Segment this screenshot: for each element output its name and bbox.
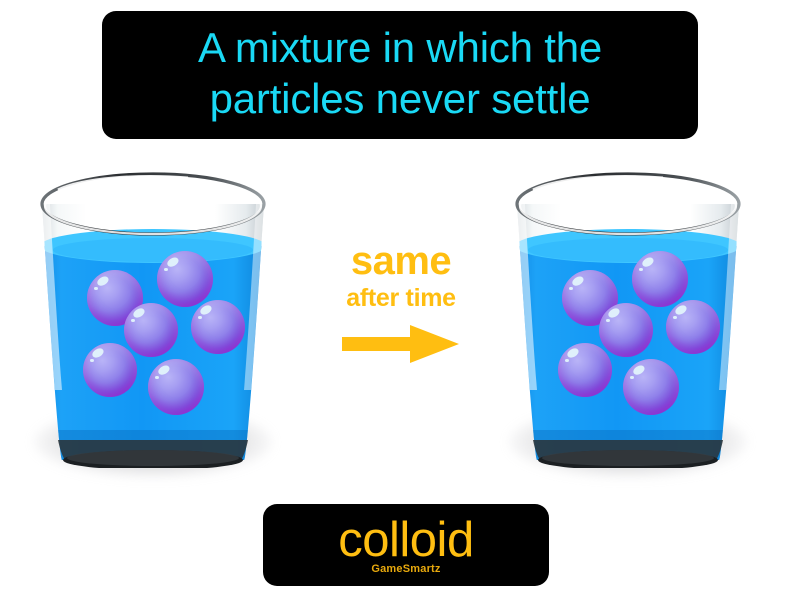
particle	[124, 303, 178, 357]
definition-line-1: A mixture in which the	[198, 22, 602, 73]
term-banner: colloid GameSmartz	[263, 504, 549, 586]
beaker-before	[28, 158, 278, 468]
particle	[191, 300, 245, 354]
particle-group	[503, 158, 753, 468]
particle	[599, 303, 653, 357]
particle	[666, 300, 720, 354]
particle	[558, 343, 612, 397]
particle	[623, 359, 679, 415]
definition-line-2: particles never settle	[210, 73, 591, 124]
beaker-after	[503, 158, 753, 468]
caption-primary: same	[316, 240, 486, 282]
particle	[148, 359, 204, 415]
term-label: colloid	[338, 513, 473, 567]
definition-banner: A mixture in which the particles never s…	[102, 11, 698, 139]
flashcard-stage: A mixture in which the particles never s…	[0, 0, 800, 600]
watermark-label: GameSmartz	[371, 563, 440, 575]
particle	[157, 251, 213, 307]
particle	[83, 343, 137, 397]
caption-secondary: after time	[316, 284, 486, 312]
arrow-right-icon	[340, 324, 462, 364]
particle	[632, 251, 688, 307]
particle-group	[28, 158, 278, 468]
transition-caption-group: same after time	[316, 240, 486, 380]
